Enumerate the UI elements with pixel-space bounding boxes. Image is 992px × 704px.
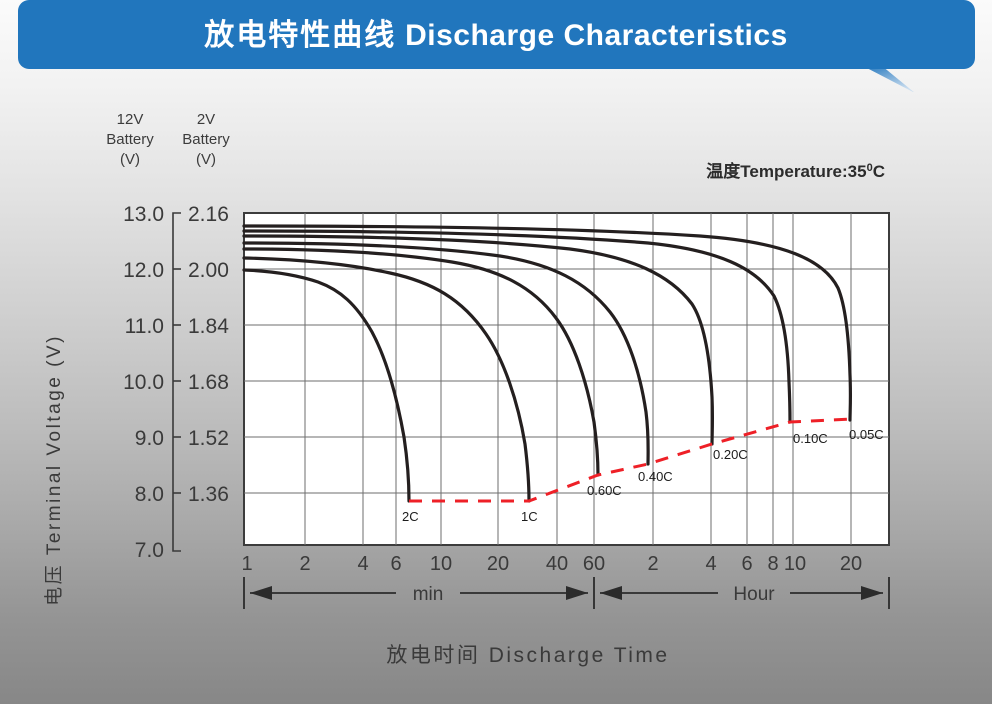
xtick-min-3: 6 xyxy=(390,553,401,575)
y-axis-left-ticks: 13.0 12.0 11.0 10.0 9.0 8.0 7.0 xyxy=(123,203,164,562)
col-12v-line1: 12V xyxy=(117,111,144,128)
hour-range-arrow-right xyxy=(861,586,883,600)
ytick-left-2: 11.0 xyxy=(125,315,164,338)
xtick-hour-2: 6 xyxy=(741,553,752,575)
temperature-unit: C xyxy=(873,162,885,181)
xtick-hour-3: 8 xyxy=(767,553,778,575)
hour-range-label: Hour xyxy=(733,584,775,605)
temperature-en: Temperature:35 xyxy=(740,162,866,181)
curve-label-1c: 1C xyxy=(521,509,538,524)
banner-body xyxy=(18,0,975,69)
curve-label-040c: 0.40C xyxy=(638,469,673,484)
screenshot-stage: 放电特性曲线 Discharge Characteristics 12V Bat… xyxy=(0,0,992,704)
y-axis-title: 电压 Terminal Voltage (V) xyxy=(43,334,65,606)
discharge-characteristics-chart: 12V Battery (V) 2V Battery (V) 温度Tempera… xyxy=(0,92,992,704)
min-range-arrow-right xyxy=(566,586,588,600)
min-range-arrow-left xyxy=(250,586,272,600)
xtick-min-0: 1 xyxy=(241,553,252,575)
ytick-right-2: 1.84 xyxy=(188,315,229,338)
plot-area xyxy=(244,213,889,545)
temperature-cn: 温度 xyxy=(706,161,741,181)
banner-tail xyxy=(863,66,915,92)
temperature-annotation: 温度Temperature:350C xyxy=(706,161,885,181)
curve-label-060c: 0.60C xyxy=(587,483,622,498)
ytick-right-5: 1.36 xyxy=(188,483,229,506)
col-2v-line1: 2V xyxy=(197,111,215,128)
xtick-min-4: 10 xyxy=(430,553,452,575)
min-range-label: min xyxy=(413,584,444,605)
xtick-hour-4: 10 xyxy=(784,553,806,575)
y-axis-column-headers: 12V Battery (V) 2V Battery (V) xyxy=(106,111,230,168)
xtick-min-1: 2 xyxy=(299,553,310,575)
ytick-left-3: 10.0 xyxy=(123,371,164,394)
hour-range-arrow-left xyxy=(600,586,622,600)
y-axis-right-ticks: 2.16 2.00 1.84 1.68 1.52 1.36 xyxy=(188,203,229,506)
col-2v-line3: (V) xyxy=(196,151,216,168)
ytick-right-0: 2.16 xyxy=(188,203,229,226)
curve-label-005c: 0.05C xyxy=(849,427,884,442)
xtick-hour-5: 20 xyxy=(840,553,862,575)
y-axis-inner-ruler xyxy=(173,213,181,551)
curve-label-020c: 0.20C xyxy=(713,447,748,462)
xtick-hour-0: 2 xyxy=(647,553,658,575)
ytick-right-1: 2.00 xyxy=(188,259,229,282)
ytick-right-3: 1.68 xyxy=(188,371,229,394)
ytick-left-6: 7.0 xyxy=(135,539,164,562)
ytick-left-4: 9.0 xyxy=(135,427,164,450)
col-12v-line3: (V) xyxy=(120,151,140,168)
curve-label-2c: 2C xyxy=(402,509,419,524)
header-banner: 放电特性曲线 Discharge Characteristics xyxy=(0,0,992,92)
xtick-min-7: 60 xyxy=(583,553,605,575)
xtick-hour-1: 4 xyxy=(705,553,716,575)
ytick-left-1: 12.0 xyxy=(123,259,164,282)
x-axis-range-bars: min Hour xyxy=(244,577,889,609)
banner-shape xyxy=(0,0,992,92)
x-axis-ticks: 1 2 4 6 10 20 40 60 2 4 6 8 10 20 xyxy=(241,553,862,575)
ytick-left-5: 8.0 xyxy=(135,483,164,506)
col-12v-line2: Battery xyxy=(106,131,154,148)
x-axis-title: 放电时间 Discharge Time xyxy=(386,644,669,667)
xtick-min-6: 40 xyxy=(546,553,568,575)
xtick-min-2: 4 xyxy=(357,553,368,575)
ytick-left-0: 13.0 xyxy=(123,203,164,226)
ytick-right-4: 1.52 xyxy=(188,427,229,450)
xtick-min-5: 20 xyxy=(487,553,509,575)
col-2v-line2: Battery xyxy=(182,131,230,148)
curve-label-010c: 0.10C xyxy=(793,431,828,446)
